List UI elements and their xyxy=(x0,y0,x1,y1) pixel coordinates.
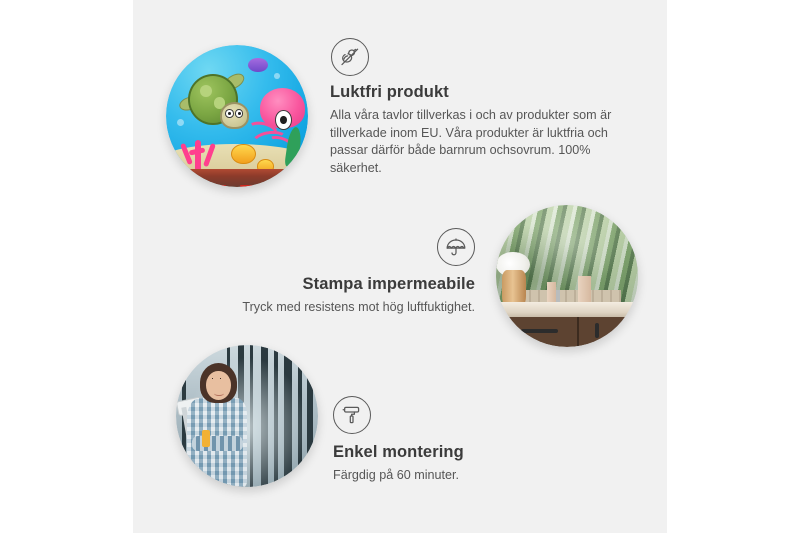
bathroom-wallpaper-photo xyxy=(496,205,638,347)
bubble-icon xyxy=(274,73,280,79)
woman-with-roller-photo xyxy=(176,345,318,487)
feature-title: Stampa impermeabile xyxy=(200,275,475,294)
feature-title: Luktfri produkt xyxy=(330,83,630,102)
feature-icon-row xyxy=(330,38,630,76)
ocean-foreground-strip xyxy=(166,169,308,187)
feature-description: Tryck med resistens mot hög luftfuktighe… xyxy=(200,299,475,317)
promo-banner: Luktfri produkt Alla våra tavlor tillver… xyxy=(0,0,800,533)
roller-grip xyxy=(202,430,211,447)
feature-description: Färgdig på 60 minuter. xyxy=(333,467,623,485)
feature-icon-row xyxy=(333,396,623,434)
underwater-cartoon-photo xyxy=(166,45,308,187)
coral-icon xyxy=(179,130,219,173)
turtle-icon xyxy=(183,71,247,131)
feature-odourless: Luktfri produkt Alla våra tavlor tillver… xyxy=(330,38,630,177)
woman-smile xyxy=(214,390,224,395)
feature-icon-row xyxy=(200,228,475,266)
feature-description: Alla våra tavlor tillverkas i och av pro… xyxy=(330,107,630,177)
umbrella-icon xyxy=(437,228,475,266)
soap-bottle-icon xyxy=(578,276,591,304)
purple-fish-icon xyxy=(248,58,268,72)
wooden-cabinet xyxy=(505,317,638,347)
no-fragrance-icon xyxy=(331,38,369,76)
paint-roller-icon xyxy=(333,396,371,434)
feature-installation: Enkel montering Färgdig på 60 minuter. xyxy=(333,396,623,485)
feature-waterproof: Stampa impermeabile Tryck med resistens … xyxy=(200,228,475,317)
feature-title: Enkel montering xyxy=(333,443,623,462)
countertop xyxy=(496,302,638,318)
woman-arm xyxy=(192,436,243,452)
soap-bottle-icon xyxy=(547,282,556,303)
